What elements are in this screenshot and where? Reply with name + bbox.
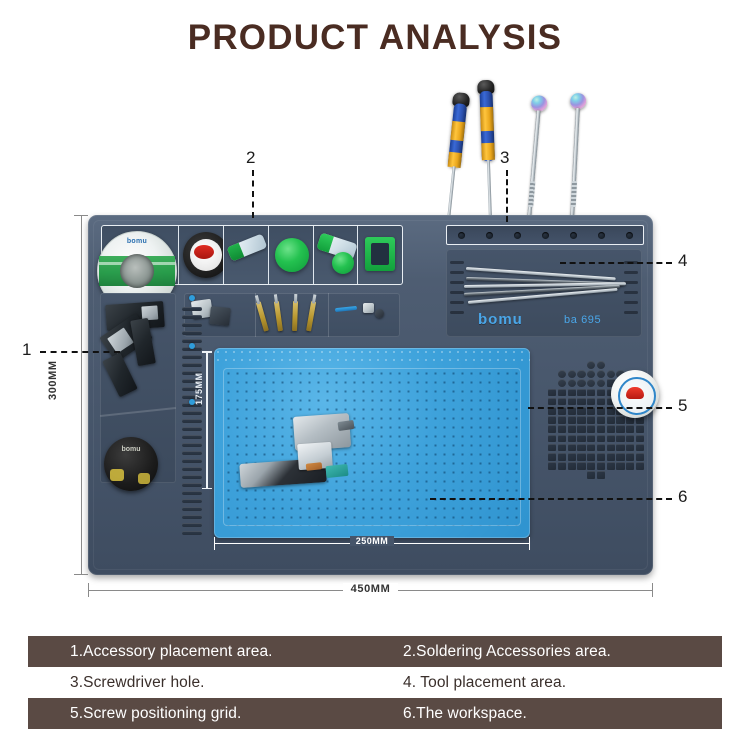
legend-item-5: 5.Screw positioning grid.: [28, 705, 389, 723]
brand-logo: bomu: [478, 311, 523, 328]
mainboard-teal-connector: [325, 464, 348, 478]
legend-item-6: 6.The workspace.: [389, 705, 722, 723]
parts-cell-misc: [329, 293, 400, 337]
legend-row: 5.Screw positioning grid. 6.The workspac…: [28, 698, 722, 729]
legend-item-4: 4. Tool placement area.: [389, 674, 722, 692]
workspace-width-label: 250MM: [350, 536, 395, 546]
parts-cell-bits: [256, 293, 328, 337]
callout-3-number: 3: [500, 148, 509, 168]
page-title: PRODUCT ANALYSIS: [0, 18, 750, 58]
workspace-width-dimension: 250MM: [214, 536, 530, 550]
callout-4-number: 4: [678, 251, 687, 271]
screwdriver-blue-yellow-1: [438, 92, 471, 221]
screwdriver-grip: [479, 91, 494, 161]
workspace-height-label: 175MM: [194, 372, 204, 405]
tray-cell-tape: [179, 226, 224, 284]
screwdriver-hole: [598, 232, 605, 239]
diagram-stage: bomu: [0, 70, 750, 610]
screwdriver-shaft: [486, 160, 491, 220]
screwdriver-hole: [458, 232, 465, 239]
tray-cell-green-holder: [358, 226, 402, 284]
callout-1-number: 1: [22, 340, 31, 360]
tray-cell-flux-pen: [224, 226, 269, 284]
magnetic-bowl: [611, 370, 659, 418]
screwdriver-hole: [514, 232, 521, 239]
screwdriver-hole: [542, 232, 549, 239]
accessory-parts-tray: [184, 293, 400, 337]
callout-6-number: 6: [678, 487, 687, 507]
overall-height-label: 300MM: [47, 360, 59, 400]
screwdriver-knurl: [570, 181, 576, 207]
flux-bottle-icon: [227, 233, 268, 261]
screwdriver-shaft: [447, 166, 456, 220]
tray-cell-syringe: [314, 226, 359, 284]
spool-brand-label: bomu: [98, 238, 176, 245]
paste-brand-label: bomu: [104, 446, 158, 453]
green-paste-icon: [275, 238, 309, 272]
tray-cell-green-paste: [269, 226, 314, 284]
screwdriver-ball-cap-icon: [570, 93, 587, 110]
legend-row: 1.Accessory placement area. 2.Soldering …: [28, 636, 722, 667]
green-holder-icon: [365, 237, 395, 271]
mainboard-connector: [337, 420, 354, 431]
slot-strip: 175MM: [180, 293, 206, 543]
screwdriver-precision-1: [520, 95, 549, 221]
screwdriver-hole: [570, 232, 577, 239]
overall-height-dimension: [74, 215, 88, 575]
product-analysis-page: PRODUCT ANALYSIS: [0, 0, 750, 750]
screwdriver-grip: [447, 103, 467, 168]
phone-mainboard: [240, 415, 358, 493]
legend-item-3: 3.Screwdriver hole.: [28, 674, 389, 692]
soldering-mat: bomu: [88, 215, 653, 575]
overall-width-label: 450MM: [343, 583, 399, 595]
screwdriver-precision-2: [563, 93, 588, 221]
overall-width-dimension: 450MM: [88, 583, 653, 597]
screwdriver-hole: [626, 232, 633, 239]
legend-row: 3.Screwdriver hole. 4. Tool placement ar…: [28, 667, 722, 698]
legend-item-2: 2.Soldering Accessories area.: [389, 643, 722, 661]
legend-table: 1.Accessory placement area. 2.Soldering …: [28, 636, 722, 729]
screwdriver-blue-yellow-2: [475, 80, 500, 221]
callout-5-number: 5: [678, 396, 687, 416]
screwdriver-knurl: [528, 181, 535, 207]
callout-2-number: 2: [246, 148, 255, 168]
workspace-height-dim-line: [206, 351, 208, 489]
green-cap-icon: [332, 252, 354, 274]
screwdriver-hole-bar: [446, 225, 644, 245]
legend-item-1: 1.Accessory placement area.: [28, 643, 389, 661]
screwdriver-hole: [486, 232, 493, 239]
brand-model: ba 695: [564, 314, 601, 326]
solder-paste-container: bomu: [104, 437, 158, 491]
tape-roll-icon: [183, 232, 224, 278]
workspace-printed-text: [236, 352, 486, 364]
